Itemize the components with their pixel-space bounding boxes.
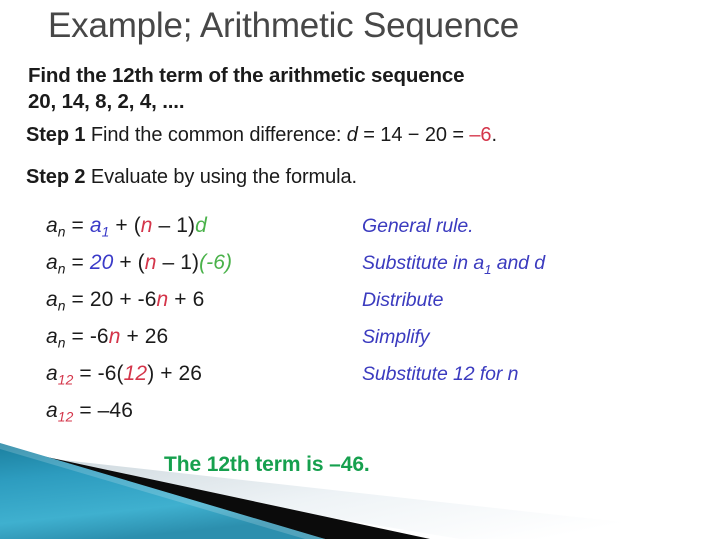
page-title: Example; Arithmetic Sequence <box>48 6 519 46</box>
step-1-line: Step 1 Find the common difference: d = 1… <box>26 124 497 147</box>
eq2-plus: + <box>119 251 131 274</box>
equation-1-expression: an = a1 + (n – 1)d <box>46 214 207 239</box>
eq2-subscript: n <box>58 260 66 276</box>
equation-4-label: Simplify <box>362 326 429 349</box>
step-1-variable-d: d <box>347 124 358 146</box>
equation-5-expression: a12 = -6(12) + 26 <box>46 362 202 387</box>
eq1-d: d <box>195 214 207 237</box>
equation-5-label: Substitute 12 for n <box>362 363 518 386</box>
eq5-twelve: 12 <box>124 362 148 385</box>
eq3-neg-six: -6 <box>138 288 157 311</box>
problem-line-2: 20, 14, 8, 2, 4, .... <box>28 89 688 115</box>
eq2-a: a <box>46 251 58 274</box>
eq5-neg-six-open: -6( <box>98 362 124 385</box>
eq2-minus: – <box>162 251 174 274</box>
eq6-equals: = <box>79 399 91 422</box>
eq3-six: 6 <box>193 288 205 311</box>
eq2-close-paren: ) <box>192 251 199 274</box>
equation-list: an = a1 + (n – 1)d General rule. an = 20… <box>0 214 720 436</box>
eq4-equals: = <box>72 325 84 348</box>
step-2-label: Step 2 <box>26 166 85 188</box>
eq2-one: 1 <box>180 251 192 274</box>
eq3-equals: = <box>72 288 84 311</box>
eq5-plus: + <box>160 362 172 385</box>
eq1-a1: a <box>90 214 102 237</box>
eq4-subscript: n <box>58 334 66 350</box>
eq4-n: n <box>109 325 121 348</box>
step-1-text: Find the common difference: <box>91 124 341 146</box>
eq2-equals: = <box>72 251 84 274</box>
eq2-n: n <box>145 251 157 274</box>
final-answer: The 12th term is –46. <box>164 453 370 477</box>
eq1-equals: = <box>72 214 84 237</box>
eq3-a: a <box>46 288 58 311</box>
eq1-open-paren: ( <box>134 214 141 237</box>
step-1-equation: = 14 − 20 = <box>363 124 464 146</box>
eq1-subscript: n <box>58 223 66 239</box>
eq1-one: 1 <box>176 214 188 237</box>
eq5-a: a <box>46 362 58 385</box>
step-2-line: Step 2 Evaluate by using the formula. <box>26 166 357 189</box>
eq2-twenty: 20 <box>90 251 114 274</box>
eq6-value: –46 <box>98 399 133 422</box>
eq3-twenty: 20 <box>90 288 114 311</box>
equation-6-expression: a12 = –46 <box>46 399 133 424</box>
step-1-period: . <box>491 124 496 146</box>
equation-row: a12 = -6(12) + 26 Substitute 12 for n <box>0 362 720 399</box>
eq3-n: n <box>157 288 169 311</box>
equation-2-label: Substitute in a1 and d <box>362 252 545 277</box>
eq4-neg-six: -6 <box>90 325 109 348</box>
step-1-result: –6 <box>469 124 491 146</box>
equation-3-expression: an = 20 + -6n + 6 <box>46 288 204 313</box>
equation-1-label: General rule. <box>362 215 473 238</box>
eq5-close-paren: ) <box>147 362 154 385</box>
equation-row: an = 20 + -6n + 6 Distribute <box>0 288 720 325</box>
eq6-a: a <box>46 399 58 422</box>
problem-line-1: Find the 12th term of the arithmetic seq… <box>28 63 688 89</box>
problem-statement: Find the 12th term of the arithmetic seq… <box>28 63 688 115</box>
eq4-a: a <box>46 325 58 348</box>
step-2-text: Evaluate by using the formula. <box>91 166 357 188</box>
eq6-subscript: 12 <box>58 408 74 424</box>
equation-row: a12 = –46 <box>0 399 720 436</box>
eq1-n: n <box>141 214 153 237</box>
equation-row: an = a1 + (n – 1)d General rule. <box>0 214 720 251</box>
eq4-plus: + <box>126 325 138 348</box>
equation-3-label: Distribute <box>362 289 443 312</box>
equation-row: an = -6n + 26 Simplify <box>0 325 720 362</box>
eq4-twenty-six: 26 <box>145 325 169 348</box>
equation-2-expression: an = 20 + (n – 1)(-6) <box>46 251 232 276</box>
eq1-minus: – <box>159 214 171 237</box>
eq5-subscript: 12 <box>58 371 74 387</box>
equation-row: an = 20 + (n – 1)(-6) Substitute in a1 a… <box>0 251 720 288</box>
eq1-plus: + <box>115 214 127 237</box>
eq3-plus-1: + <box>119 288 131 311</box>
eq2-label-post: and d <box>491 252 545 274</box>
equation-4-expression: an = -6n + 26 <box>46 325 168 350</box>
eq2-label-pre: Substitute in a <box>362 252 484 274</box>
eq2-neg-six: (-6) <box>199 251 232 274</box>
eq5-twenty-six: 26 <box>179 362 203 385</box>
slide-canvas: Example; Arithmetic Sequence Find the 12… <box>0 0 720 539</box>
decorative-diagonal-banner <box>0 429 720 539</box>
eq1-a: a <box>46 214 58 237</box>
eq3-subscript: n <box>58 297 66 313</box>
eq2-open-paren: ( <box>138 251 145 274</box>
eq3-plus-2: + <box>174 288 186 311</box>
eq5-equals: = <box>79 362 91 385</box>
eq1-a1-subscript: 1 <box>102 223 110 239</box>
step-1-label: Step 1 <box>26 124 85 146</box>
